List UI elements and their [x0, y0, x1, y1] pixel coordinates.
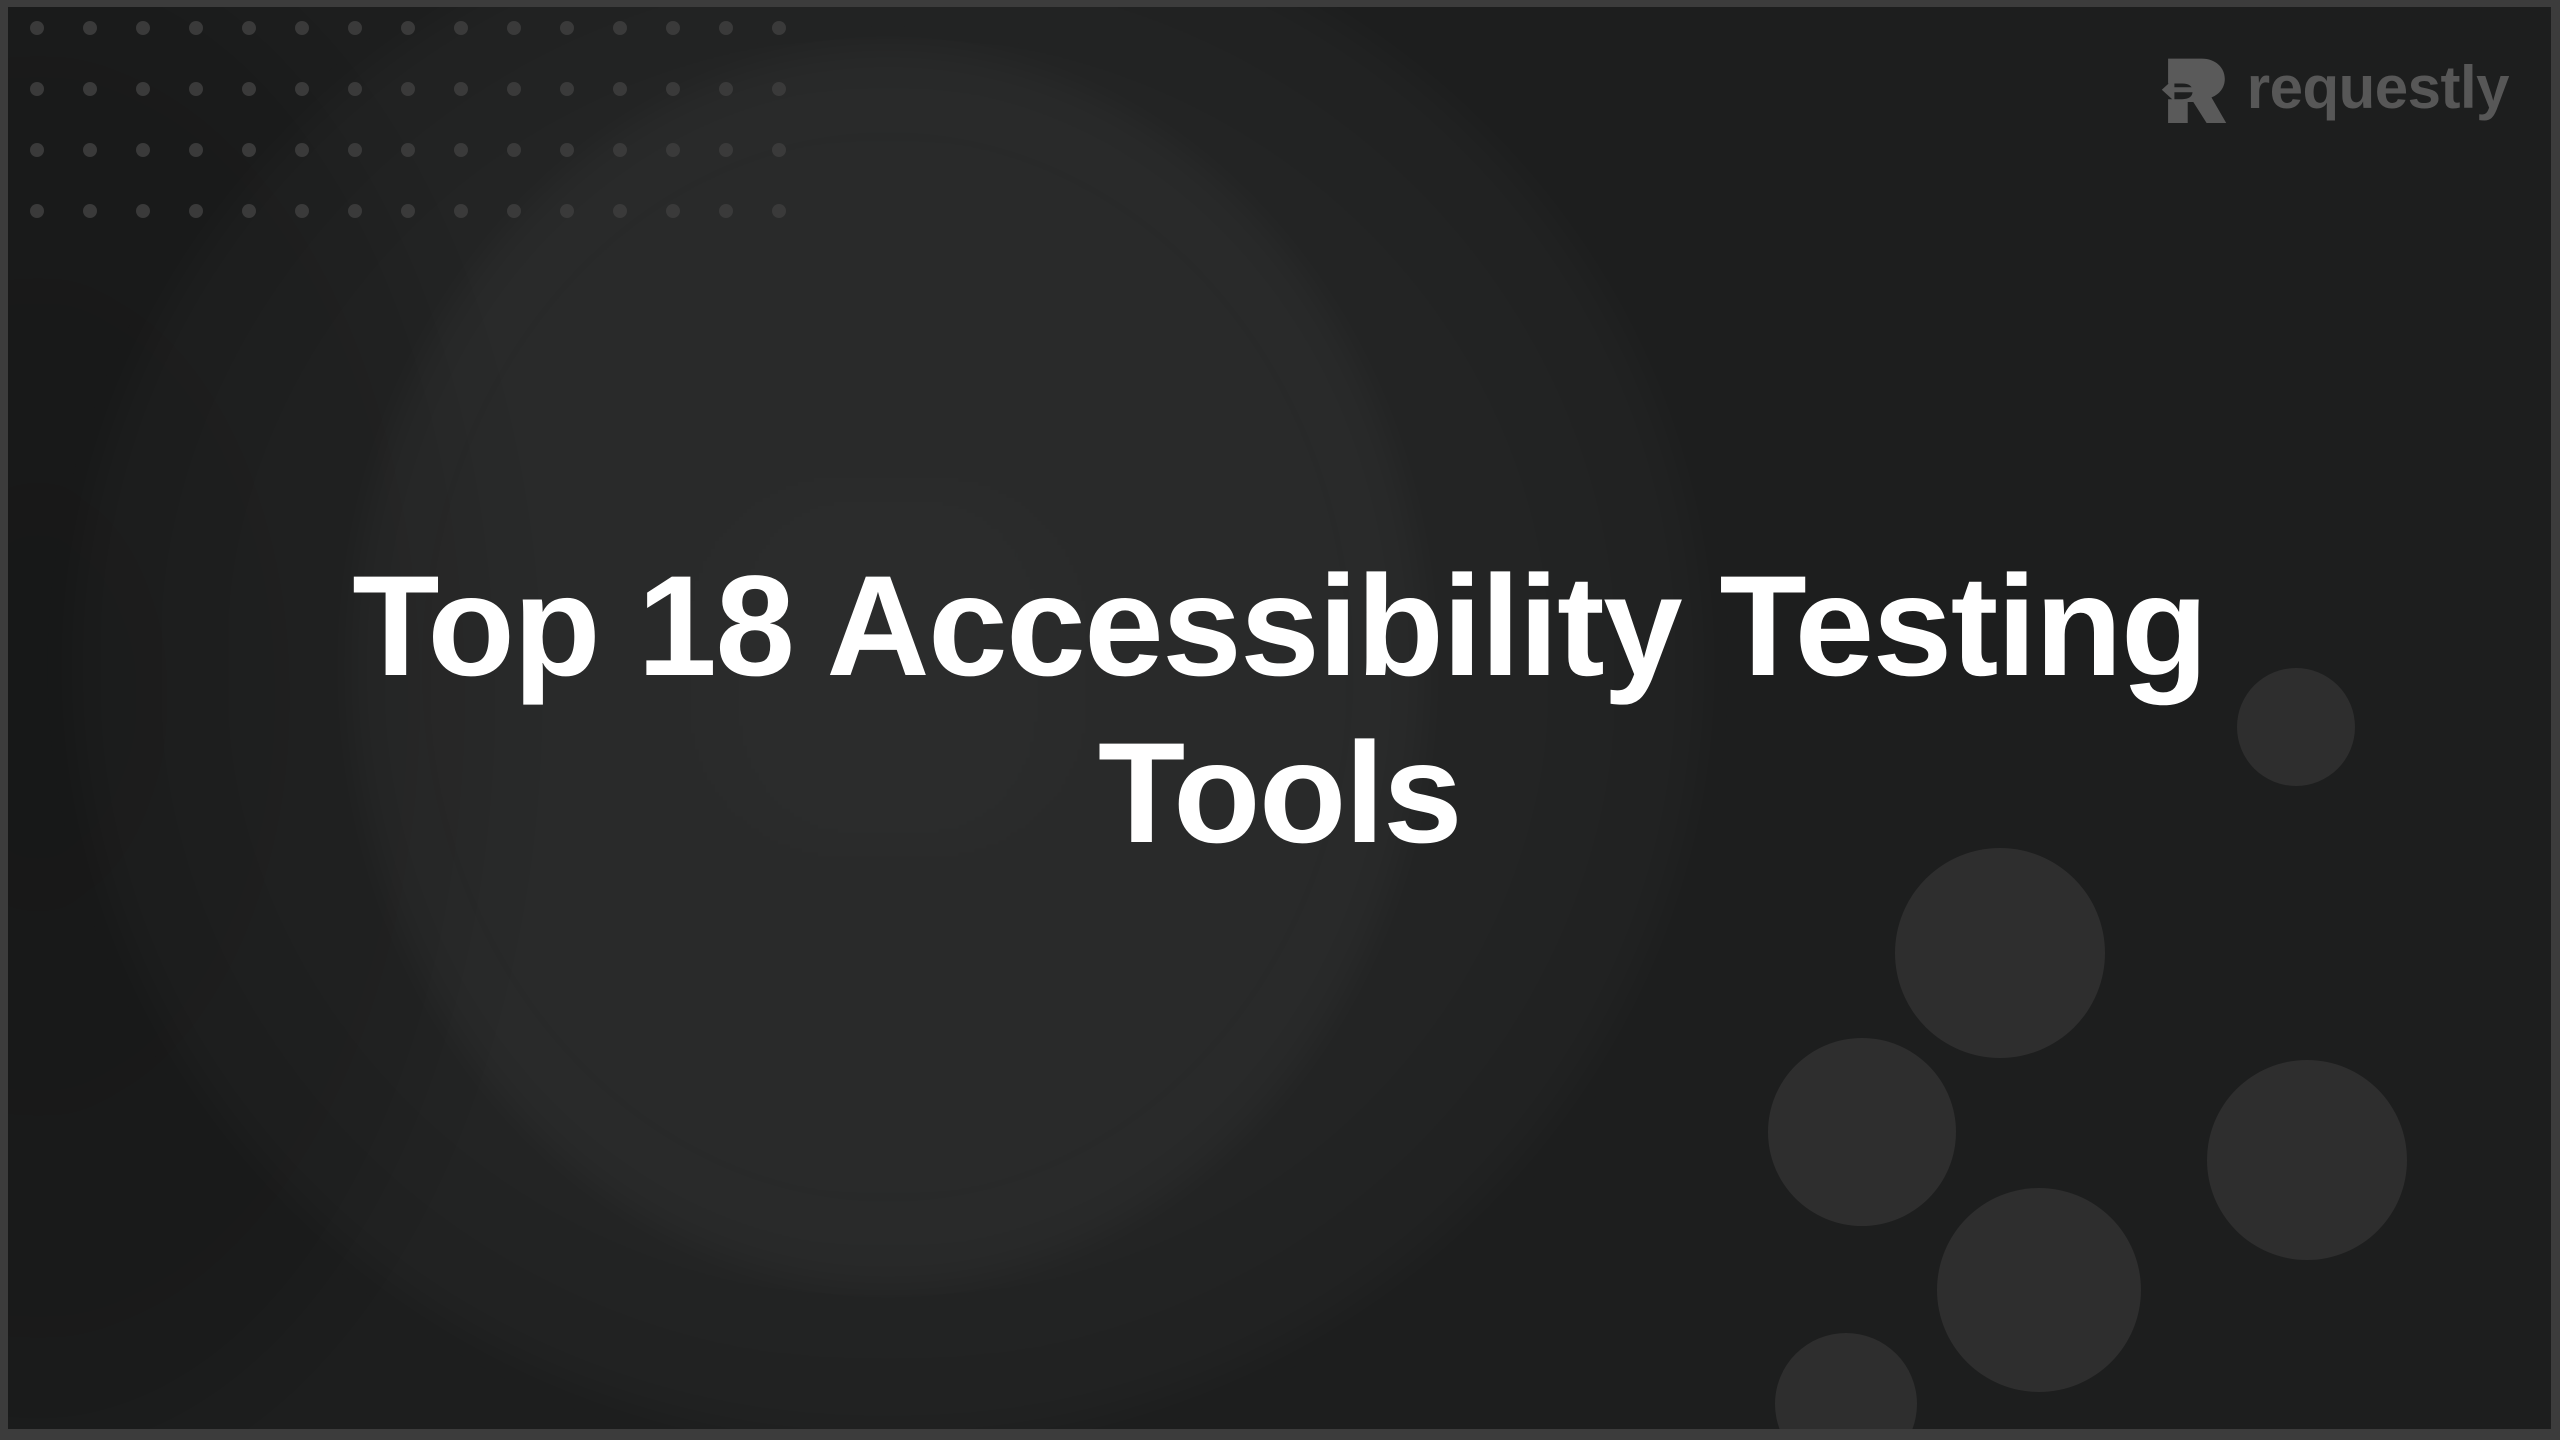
headline-container: Top 18 Accessibility Testing Tools [8, 7, 2551, 1429]
slide-canvas: requestly Top 18 Accessibility Testing T… [8, 7, 2551, 1429]
slide-frame: requestly Top 18 Accessibility Testing T… [0, 0, 2560, 1440]
page-title: Top 18 Accessibility Testing Tools [265, 543, 2295, 878]
